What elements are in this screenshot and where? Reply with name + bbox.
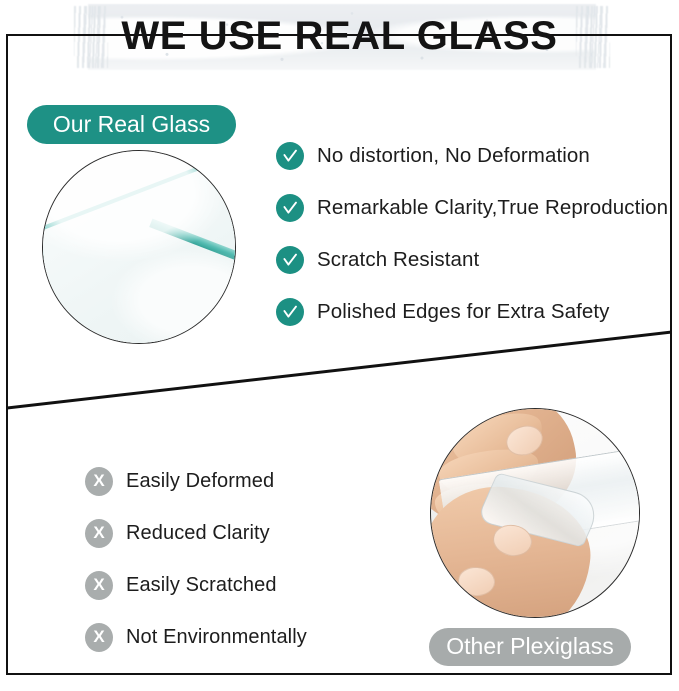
- check-icon: [276, 298, 304, 326]
- list-item: Polished Edges for Extra Safety: [276, 286, 674, 338]
- cross-icon: X: [85, 519, 113, 548]
- check-icon: [276, 194, 304, 222]
- cons-feature-list: X Easily Deformed X Reduced Clarity X Ea…: [85, 455, 415, 663]
- list-item-label: No distortion, No Deformation: [317, 144, 590, 168]
- list-item: X Reduced Clarity: [85, 507, 415, 559]
- check-icon: [276, 142, 304, 170]
- our-real-glass-badge: Our Real Glass: [27, 105, 236, 144]
- real-glass-corner-photo: [42, 150, 236, 344]
- glass-highlight: [43, 151, 235, 343]
- list-item-label: Not Environmentally: [126, 626, 307, 649]
- cross-icon: X: [85, 571, 113, 600]
- pros-feature-list: No distortion, No Deformation Remarkable…: [276, 130, 674, 338]
- list-item: X Not Environmentally: [85, 611, 415, 663]
- cross-icon: X: [85, 467, 113, 496]
- list-item-label: Easily Scratched: [126, 574, 277, 597]
- bending-plexiglass-photo: [430, 408, 640, 618]
- list-item-label: Reduced Clarity: [126, 522, 270, 545]
- list-item-label: Polished Edges for Extra Safety: [317, 300, 610, 324]
- list-item: X Easily Deformed: [85, 455, 415, 507]
- cross-icon: X: [85, 623, 113, 652]
- list-item: Scratch Resistant: [276, 234, 674, 286]
- list-item: X Easily Scratched: [85, 559, 415, 611]
- page-title: WE USE REAL GLASS: [0, 14, 679, 59]
- list-item: No distortion, No Deformation: [276, 130, 674, 182]
- list-item-label: Scratch Resistant: [317, 248, 479, 272]
- other-plexiglass-badge-label: Other Plexiglass: [446, 633, 613, 660]
- list-item-label: Easily Deformed: [126, 470, 274, 493]
- other-plexiglass-badge: Other Plexiglass: [429, 628, 631, 666]
- check-icon: [276, 246, 304, 274]
- our-real-glass-badge-label: Our Real Glass: [53, 111, 210, 138]
- list-item: Remarkable Clarity,True Reproduction: [276, 182, 674, 234]
- list-item-label: Remarkable Clarity,True Reproduction: [317, 196, 668, 220]
